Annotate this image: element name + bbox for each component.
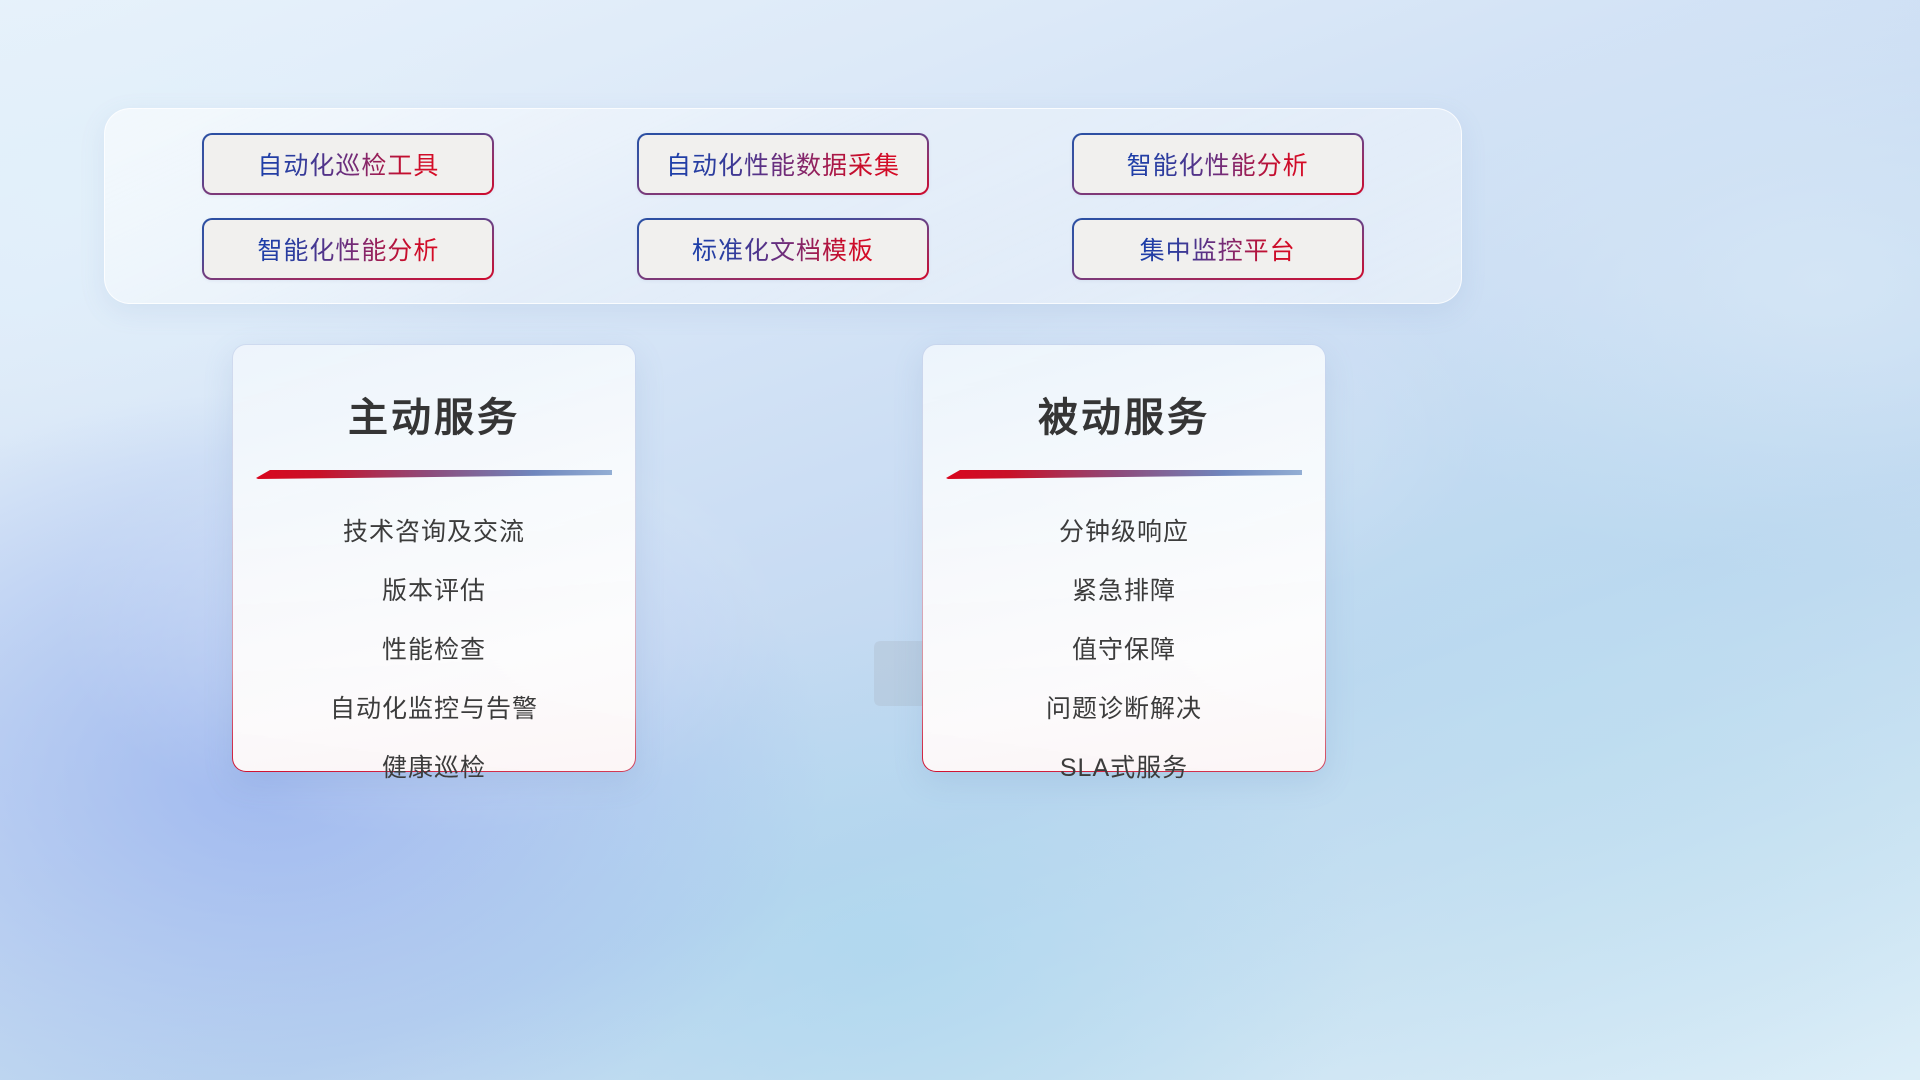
capability-tag[interactable]: 自动化巡检工具 <box>202 133 494 195</box>
card-divider <box>946 467 1302 481</box>
capability-tag[interactable]: 智能化性能分析 <box>202 218 494 280</box>
slide-canvas: 自动化巡检工具 自动化性能数据采集 智能化性能分析 智能化性能分析 标准化文档模… <box>0 0 1920 1080</box>
capability-tag-label: 自动化巡检工具 <box>257 146 439 182</box>
service-list-item[interactable]: 自动化监控与告警 <box>251 680 617 739</box>
service-list-item[interactable]: 分钟级响应 <box>941 503 1307 562</box>
service-list-item[interactable]: 紧急排障 <box>941 562 1307 621</box>
capability-tag[interactable]: 智能化性能分析 <box>1072 133 1364 195</box>
capability-tag-panel: 自动化巡检工具 自动化性能数据采集 智能化性能分析 智能化性能分析 标准化文档模… <box>104 108 1462 304</box>
service-list-item[interactable]: 健康巡检 <box>251 739 617 798</box>
capability-tag-label: 自动化性能数据采集 <box>666 146 900 182</box>
service-card-proactive[interactable]: 主动服务 技术咨询及交流 版本评估 性能检查 自动化监控与告警 <box>232 344 636 772</box>
capability-tag[interactable]: 自动化性能数据采集 <box>637 133 929 195</box>
card-title: 被动服务 <box>941 385 1307 443</box>
card-title: 主动服务 <box>251 385 617 443</box>
service-list-item[interactable]: 版本评估 <box>251 562 617 621</box>
capability-tag[interactable]: 标准化文档模板 <box>637 218 929 280</box>
capability-tag[interactable]: 集中监控平台 <box>1072 218 1364 280</box>
service-list-item[interactable]: 性能检查 <box>251 621 617 680</box>
card-divider <box>256 467 612 481</box>
capability-tag-label: 智能化性能分析 <box>1127 146 1309 182</box>
service-item-list: 技术咨询及交流 版本评估 性能检查 自动化监控与告警 健康巡检 <box>251 503 617 798</box>
service-list-item[interactable]: 值守保障 <box>941 621 1307 680</box>
service-list-item[interactable]: SLA式服务 <box>941 739 1307 798</box>
capability-tag-label: 智能化性能分析 <box>257 231 439 267</box>
capability-tag-label: 标准化文档模板 <box>692 231 874 267</box>
service-card-reactive[interactable]: 被动服务 分钟级响应 紧急排障 值守保障 问题诊断解决 <box>922 344 1326 772</box>
service-item-list: 分钟级响应 紧急排障 值守保障 问题诊断解决 SLA式服务 <box>941 503 1307 798</box>
service-list-item[interactable]: 问题诊断解决 <box>941 680 1307 739</box>
capability-tag-label: 集中监控平台 <box>1140 231 1296 267</box>
service-list-item[interactable]: 技术咨询及交流 <box>251 503 617 562</box>
